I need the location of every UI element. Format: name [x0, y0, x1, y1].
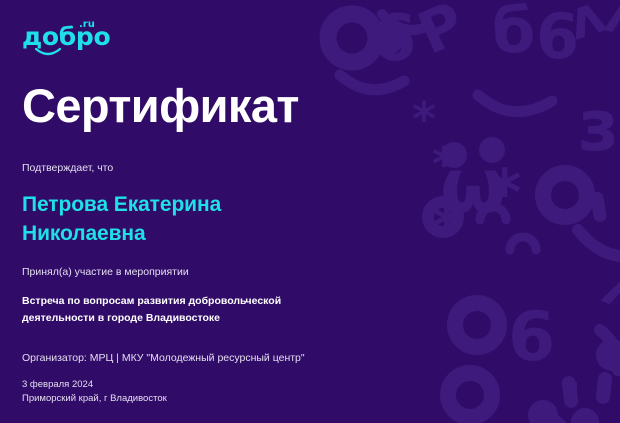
issue-location: Приморский край, г Владивосток — [22, 392, 167, 406]
smile-swoosh-icon — [35, 48, 61, 56]
issue-date: 3 февраля 2024 — [22, 378, 167, 392]
certificate-page: б 6 ʌ ʌ P * * * * — [0, 0, 620, 423]
participation-label: Принял(а) участие в мероприятии — [22, 265, 620, 279]
recipient-name: Петрова Екатерина Николаевна — [22, 190, 322, 250]
event-title: Встреча по вопросам развития добровольче… — [22, 293, 332, 326]
organizer-line: Организатор: МРЦ | МКУ "Молодежный ресур… — [22, 352, 305, 364]
page-title: Сертификат — [22, 82, 620, 130]
certificate-content: добро .ru Сертификат Подтверждает, что П… — [0, 0, 620, 423]
logo-tld: .ru — [79, 20, 95, 30]
confirm-label: Подтверждает, что — [22, 161, 620, 175]
dobro-ru-logo[interactable]: добро .ru — [22, 22, 100, 56]
certificate-footer: 3 февраля 2024 Приморский край, г Владив… — [22, 378, 167, 407]
logo-wordmark: добро — [22, 24, 110, 49]
